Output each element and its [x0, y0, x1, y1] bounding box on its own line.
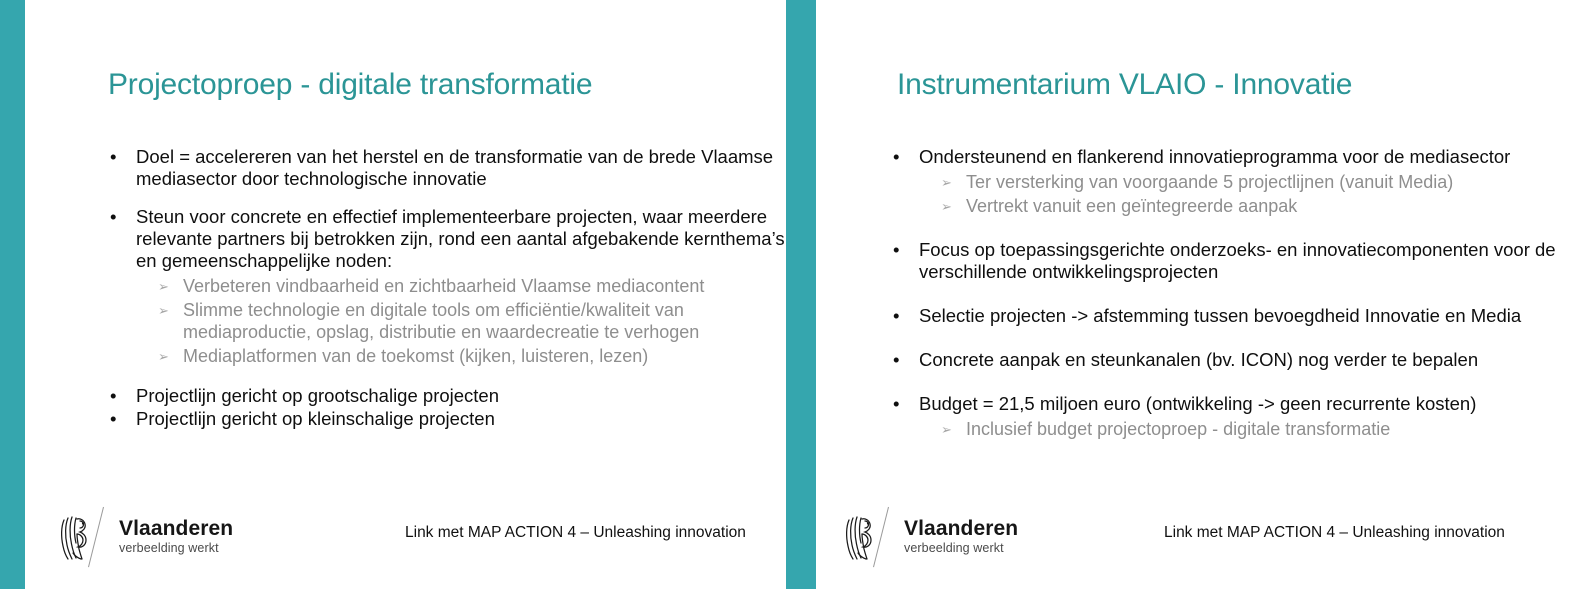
list-item-text: Focus op toepassingsgerichte onderzoeks-… — [919, 239, 1556, 282]
logo-tagline: verbeelding werkt — [904, 540, 1018, 556]
logo-brand-name: Vlaanderen — [904, 517, 1018, 540]
list-item: ➢ Mediaplatformen van de toekomst (kijke… — [136, 345, 786, 367]
page-title: Projectoproep - digitale transformatie — [108, 68, 592, 102]
list-item-text: Projectlijn gericht op grootschalige pro… — [136, 385, 499, 406]
page-title: Instrumentarium VLAIO - Innovatie — [897, 68, 1352, 102]
slide-instrumentarium: Instrumentarium VLAIO - Innovatie • Onde… — [816, 0, 1575, 589]
list-item: • Steun voor concrete en effectief imple… — [108, 206, 786, 367]
bullet-list: • Doel = accelereren van het herstel en … — [108, 146, 786, 430]
list-item: • Projectlijn gericht op kleinschalige p… — [108, 408, 786, 430]
accent-bar-middle — [786, 0, 816, 589]
list-item: • Ondersteunend en flankerend innovatiep… — [891, 146, 1563, 217]
list-item: • Budget = 21,5 miljoen euro (ontwikkeli… — [891, 393, 1563, 440]
list-item: • Selectie projecten -> afstemming tusse… — [891, 305, 1563, 327]
logo-brand-name: Vlaanderen — [119, 517, 233, 540]
list-item: ➢ Ter versterking van voorgaande 5 proje… — [919, 171, 1563, 193]
bullet-dot-icon: • — [110, 385, 116, 407]
list-item-text: Doel = accelereren van het herstel en de… — [136, 146, 773, 189]
slide-body: • Doel = accelereren van het herstel en … — [108, 146, 786, 431]
list-item-text: Slimme technologie en digitale tools om … — [183, 300, 699, 342]
list-item-text: Ter versterking van voorgaande 5 project… — [966, 172, 1453, 192]
bullet-dot-icon: • — [110, 206, 116, 228]
logo-tagline: verbeelding werkt — [119, 540, 233, 556]
logo-wordmark: Vlaanderen verbeelding werkt — [904, 517, 1018, 556]
list-item: • Concrete aanpak en steunkanalen (bv. I… — [891, 349, 1563, 371]
list-item-text: Ondersteunend en flankerend innovatiepro… — [919, 146, 1510, 167]
bullet-dot-icon: • — [893, 146, 899, 168]
list-item-text: Selectie projecten -> afstemming tussen … — [919, 305, 1521, 326]
bullet-dot-icon: • — [893, 305, 899, 327]
sub-bullet-list: ➢ Verbeteren vindbaarheid en zichtbaarhe… — [136, 275, 786, 367]
list-item-text: Inclusief budget projectoproep - digital… — [966, 419, 1390, 439]
bullet-dot-icon: • — [893, 393, 899, 415]
slide-deck: Projectoproep - digitale transformatie •… — [0, 0, 1575, 589]
list-item-text: Projectlijn gericht op kleinschalige pro… — [136, 408, 495, 429]
list-item: ➢ Verbeteren vindbaarheid en zichtbaarhe… — [136, 275, 786, 297]
arrow-bullet-icon: ➢ — [941, 418, 952, 441]
bullet-dot-icon: • — [110, 146, 116, 168]
slide-projectoproep: Projectoproep - digitale transformatie •… — [25, 0, 786, 589]
arrow-bullet-icon: ➢ — [158, 299, 169, 322]
list-item-text: Concrete aanpak en steunkanalen (bv. ICO… — [919, 349, 1478, 370]
arrow-bullet-icon: ➢ — [941, 195, 952, 218]
vlaanderen-logo: Vlaanderen verbeelding werkt — [842, 511, 1022, 567]
accent-bar-left — [0, 0, 25, 589]
vlaanderen-logo: Vlaanderen verbeelding werkt — [57, 511, 237, 567]
list-item-text: Verbeteren vindbaarheid en zichtbaarheid… — [183, 276, 704, 296]
footer-note: Link met MAP ACTION 4 – Unleashing innov… — [405, 524, 746, 542]
arrow-bullet-icon: ➢ — [158, 275, 169, 298]
slide-body: • Ondersteunend en flankerend innovatiep… — [891, 146, 1563, 444]
list-item: ➢ Inclusief budget projectoproep - digit… — [919, 418, 1563, 440]
bullet-dot-icon: • — [110, 408, 116, 430]
slide-footer: Vlaanderen verbeelding werkt Link met MA… — [25, 503, 786, 589]
list-item: ➢ Slimme technologie en digitale tools o… — [136, 299, 786, 343]
bullet-dot-icon: • — [893, 349, 899, 371]
arrow-bullet-icon: ➢ — [941, 171, 952, 194]
sub-bullet-list: ➢ Inclusief budget projectoproep - digit… — [919, 418, 1563, 440]
list-item-text: Budget = 21,5 miljoen euro (ontwikkeling… — [919, 393, 1476, 414]
bullet-list: • Ondersteunend en flankerend innovatiep… — [891, 146, 1563, 440]
list-item: ➢ Vertrekt vanuit een geïntegreerde aanp… — [919, 195, 1563, 217]
slide-footer: Vlaanderen verbeelding werkt Link met MA… — [816, 503, 1575, 589]
list-item-text: Steun voor concrete en effectief impleme… — [136, 206, 785, 271]
sub-bullet-list: ➢ Ter versterking van voorgaande 5 proje… — [919, 171, 1563, 217]
list-item: • Projectlijn gericht op grootschalige p… — [108, 385, 786, 407]
bullet-dot-icon: • — [893, 239, 899, 261]
logo-wordmark: Vlaanderen verbeelding werkt — [119, 517, 233, 556]
list-item: • Focus op toepassingsgerichte onderzoek… — [891, 239, 1563, 283]
list-item: • Doel = accelereren van het herstel en … — [108, 146, 786, 190]
list-item-text: Mediaplatformen van de toekomst (kijken,… — [183, 346, 648, 366]
footer-note: Link met MAP ACTION 4 – Unleashing innov… — [1164, 524, 1505, 542]
arrow-bullet-icon: ➢ — [158, 345, 169, 368]
list-item-text: Vertrekt vanuit een geïntegreerde aanpak — [966, 196, 1297, 216]
